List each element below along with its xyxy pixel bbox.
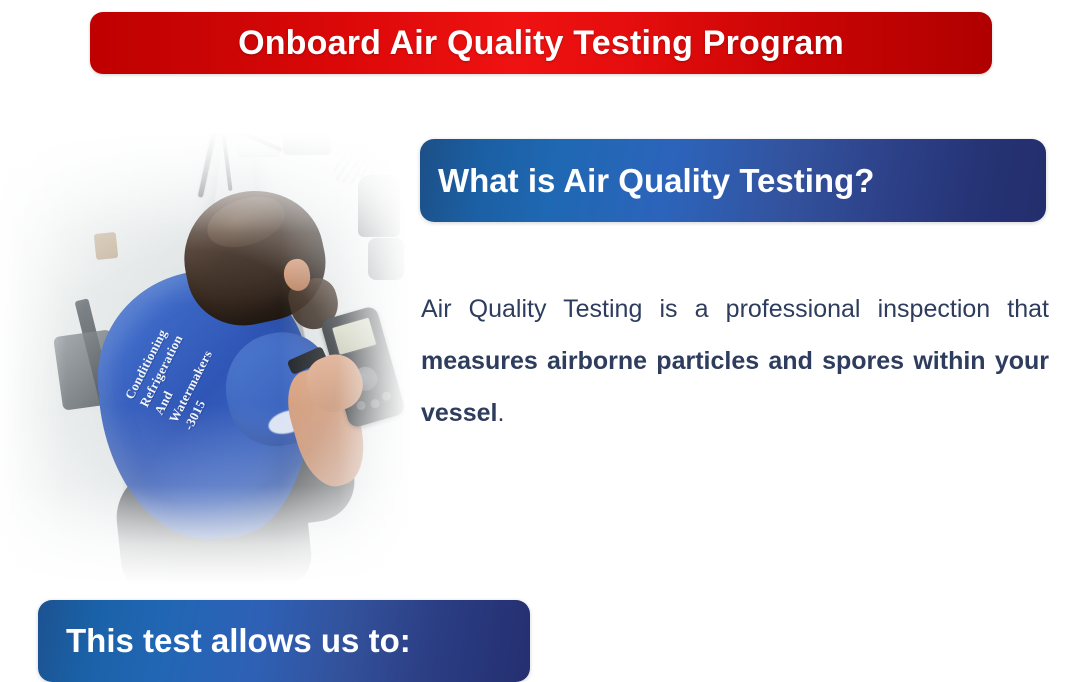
meter-button-center — [369, 398, 380, 409]
program-title-banner: Onboard Air Quality Testing Program — [90, 12, 992, 74]
equipment-dark-unit-lower — [368, 238, 404, 280]
meter-screen — [331, 316, 378, 356]
equipment-box-top — [283, 133, 331, 155]
cta-banner: This test allows us to: — [38, 600, 530, 682]
section-heading: What is Air Quality Testing? — [438, 162, 874, 200]
technician-photo: Conditioning RefrigerationAndWatermakers… — [0, 133, 412, 585]
technician-figure: Conditioning RefrigerationAndWatermakers… — [58, 183, 368, 583]
body-emphasis-text: measures airborne particles and spores w… — [421, 347, 1049, 427]
page-title: Onboard Air Quality Testing Program — [238, 24, 844, 63]
photo-scene: Conditioning RefrigerationAndWatermakers… — [0, 133, 412, 585]
body-tail-text: . — [497, 399, 504, 427]
section-body-paragraph: Air Quality Testing is a professional in… — [421, 283, 1049, 439]
meter-button-right — [381, 391, 392, 402]
cta-label: This test allows us to: — [66, 622, 411, 660]
section-header-banner: What is Air Quality Testing? — [420, 139, 1046, 222]
meter-button-left — [355, 400, 366, 411]
body-lead-text: Air Quality Testing is a professional in… — [421, 295, 1049, 323]
